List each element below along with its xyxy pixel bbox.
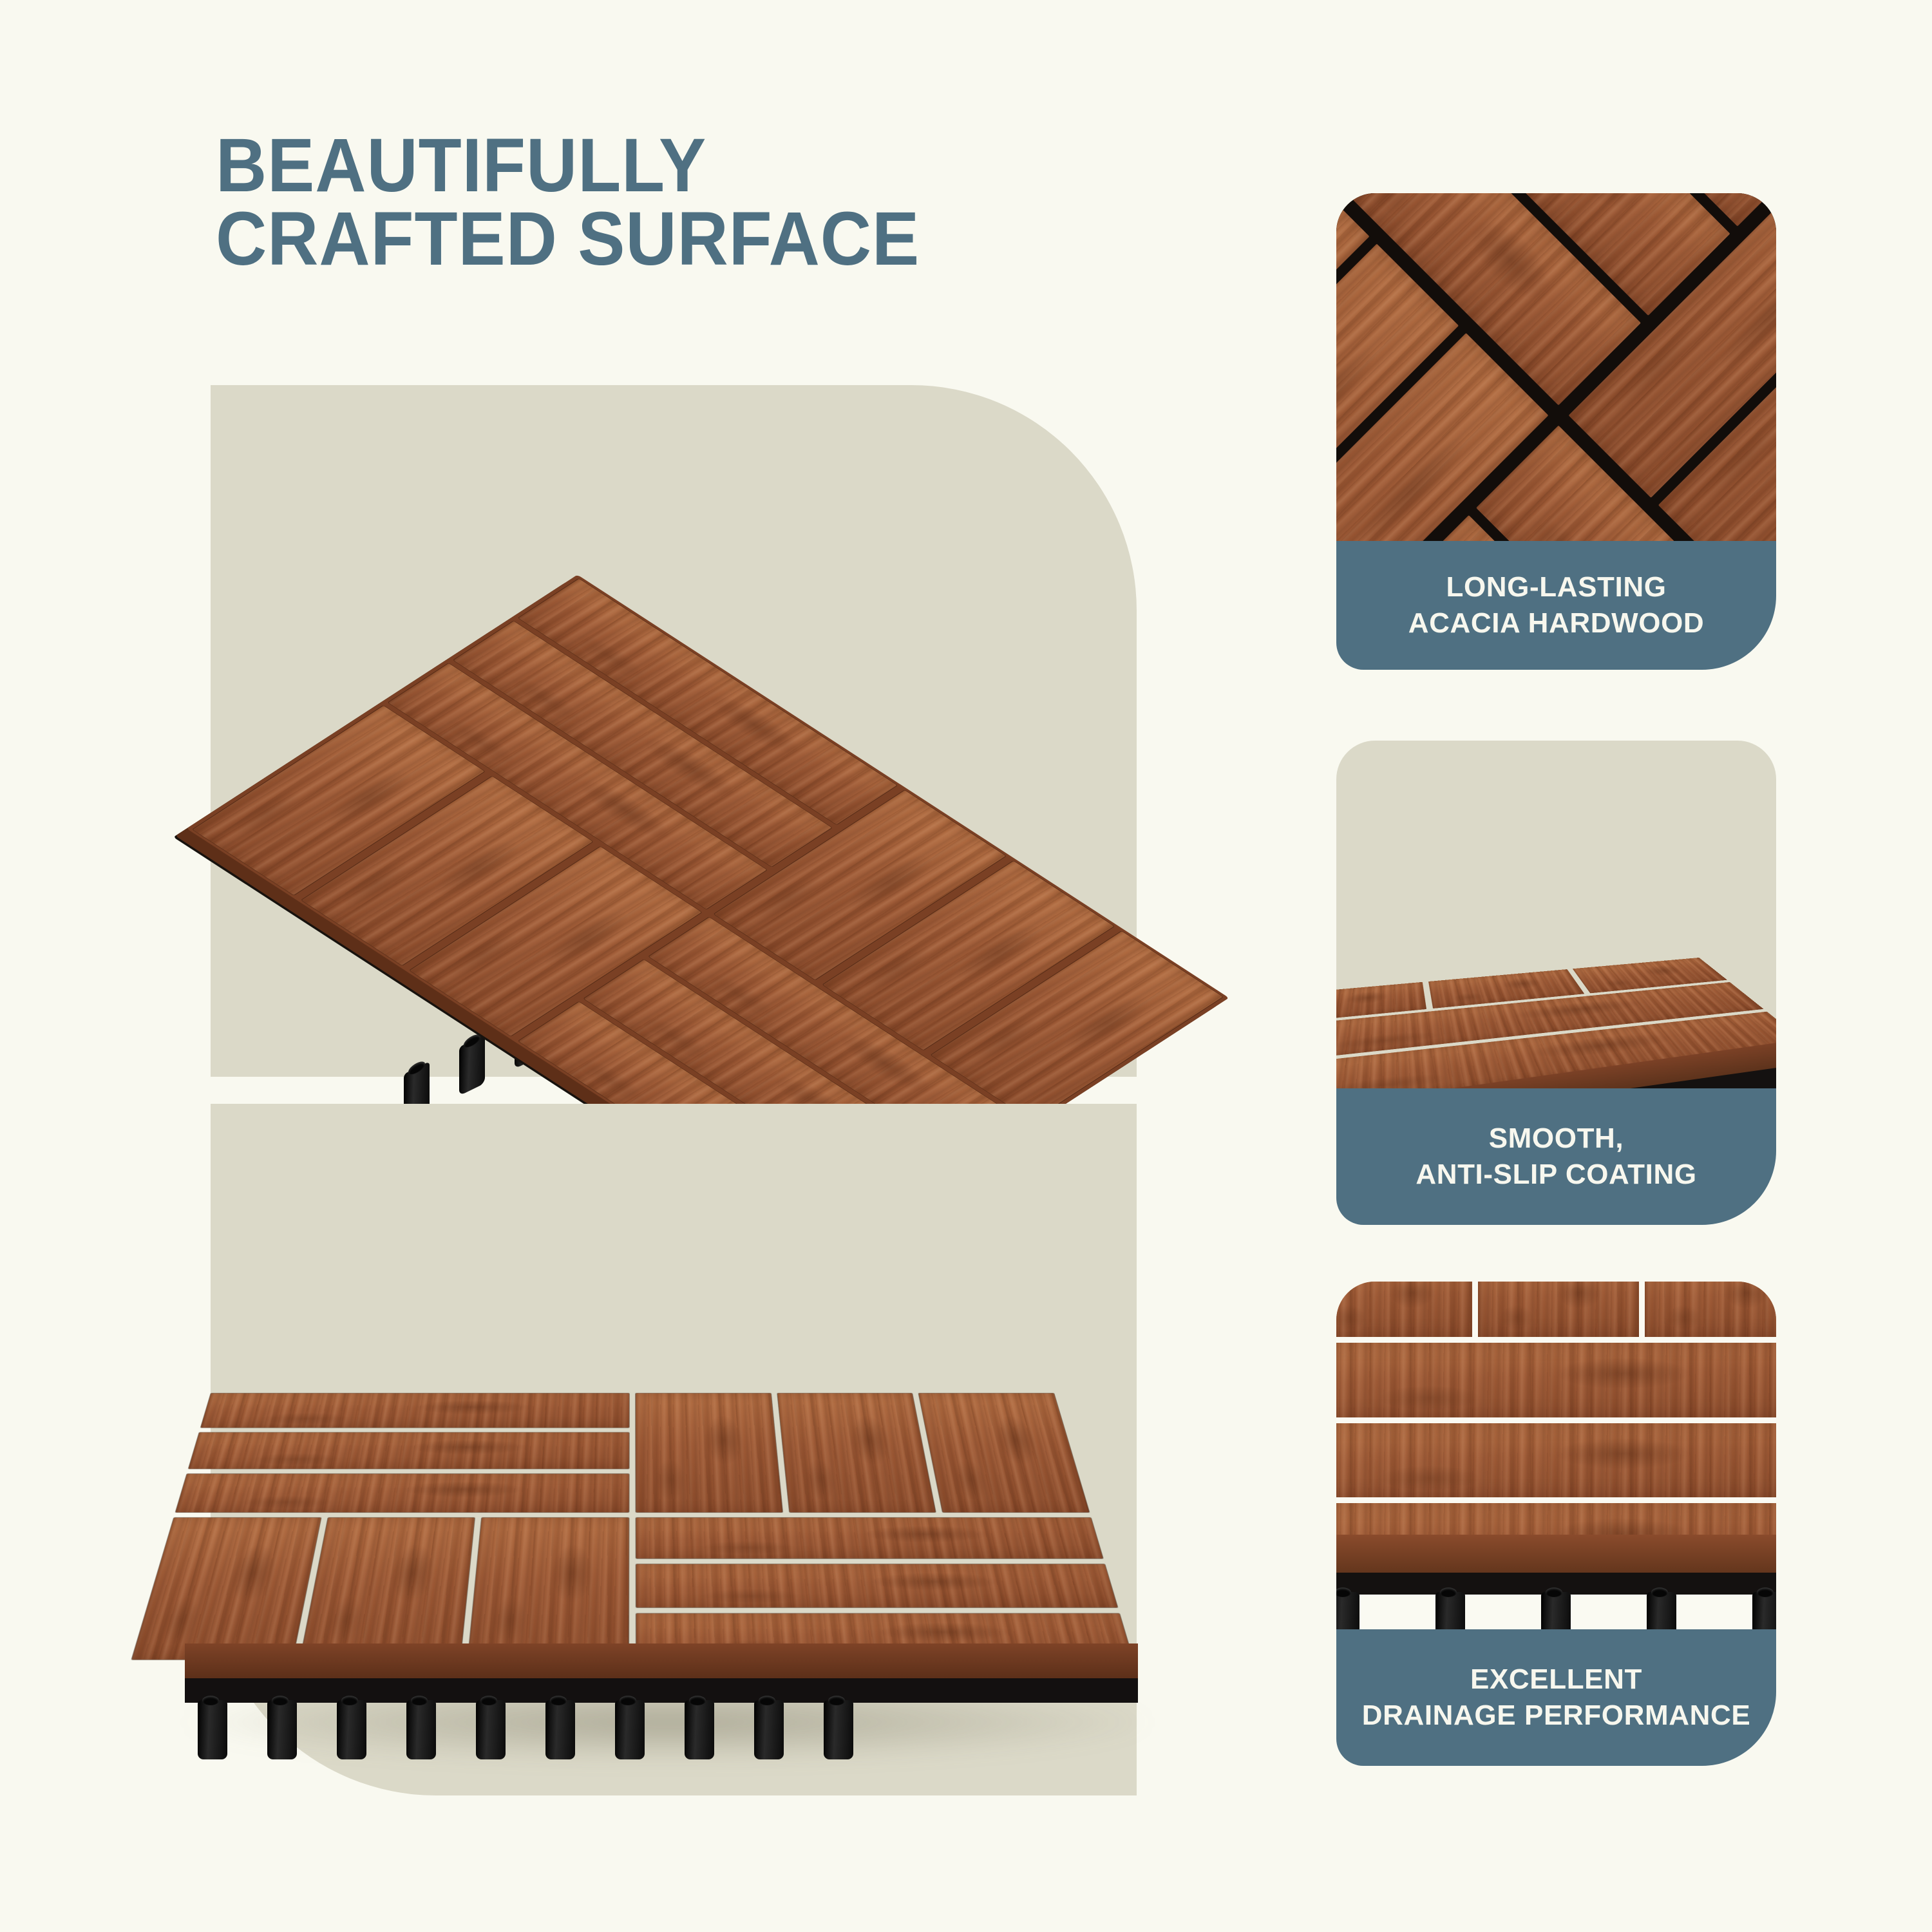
base-peg <box>459 1034 485 1096</box>
tile-quadrant <box>632 1515 1138 1663</box>
base-peg <box>824 1700 853 1759</box>
wood-slat <box>131 1518 321 1660</box>
wood-slat <box>636 1393 782 1512</box>
base-peg <box>406 1700 436 1759</box>
front-tile-surface <box>127 1391 1138 1663</box>
wood-slat <box>468 1518 629 1660</box>
base-peg <box>267 1700 297 1759</box>
base-peg <box>337 1700 366 1759</box>
tile-front-edge <box>1336 1282 1776 1629</box>
base-peg <box>1647 1592 1676 1629</box>
base-peg <box>1541 1592 1571 1629</box>
feature-card-anti-slip: SMOOTH, ANTI-SLIP COATING <box>1336 741 1776 1225</box>
base-peg <box>198 1700 227 1759</box>
caption-line-2: DRAINAGE PERFORMANCE <box>1362 1698 1751 1734</box>
peg-row <box>1336 1592 1776 1629</box>
diagonal-slat-closeup <box>1336 193 1776 541</box>
page-title-line-2: CRAFTED SURFACE <box>216 202 1114 276</box>
wood-slat <box>176 1474 629 1513</box>
front-tile-edge <box>185 1643 1138 1681</box>
caption-line-1: EXCELLENT <box>1470 1662 1642 1698</box>
wood-slat <box>1645 1282 1776 1337</box>
base-peg <box>1336 1592 1359 1629</box>
tile-edge <box>1336 1535 1776 1575</box>
page-title: BEAUTIFULLY CRAFTED SURFACE <box>216 129 1114 276</box>
feature-caption: LONG-LASTING ACACIA HARDWOOD <box>1336 541 1776 670</box>
base-peg <box>685 1700 714 1759</box>
feature-card-drainage: EXCELLENT DRAINAGE PERFORMANCE <box>1336 1282 1776 1766</box>
feature-caption: SMOOTH, ANTI-SLIP COATING <box>1336 1088 1776 1225</box>
caption-line-1: LONG-LASTING <box>1446 569 1666 605</box>
wood-slat <box>1336 1343 1776 1417</box>
caption-line-1: SMOOTH, <box>1489 1121 1624 1157</box>
tile-quadrant <box>127 1515 632 1663</box>
hero-image-panel <box>211 385 1137 1077</box>
base-peg <box>1752 1592 1776 1629</box>
base-peg <box>1435 1592 1465 1629</box>
front-peg-row <box>198 1700 853 1759</box>
base-peg <box>615 1700 645 1759</box>
feature-caption: EXCELLENT DRAINAGE PERFORMANCE <box>1336 1629 1776 1766</box>
feature-card-acacia-hardwood: LONG-LASTING ACACIA HARDWOOD <box>1336 193 1776 670</box>
wood-slat <box>636 1564 1118 1607</box>
front-tile-base-plate <box>185 1678 1138 1703</box>
tile-corner-angle <box>1336 741 1776 1088</box>
wood-slat <box>636 1518 1103 1558</box>
wood-slat <box>1336 1282 1472 1337</box>
slat-row <box>1336 1343 1776 1417</box>
wood-slat <box>300 1518 475 1660</box>
slat-row <box>1336 1282 1776 1337</box>
base-peg <box>754 1700 784 1759</box>
diagonal-slat-grid <box>1336 193 1776 541</box>
tile-top-surface <box>1336 1282 1776 1578</box>
caption-line-2: ACACIA HARDWOOD <box>1408 605 1705 641</box>
base-peg <box>545 1700 575 1759</box>
page-title-line-1: BEAUTIFULLY <box>216 129 1114 202</box>
tile-quadrant <box>632 1391 1094 1515</box>
wood-slat <box>189 1432 629 1468</box>
tile-quadrant <box>171 1391 632 1515</box>
wood-slat <box>777 1393 936 1512</box>
photo-backdrop <box>1336 193 1776 541</box>
wood-slat <box>1336 1423 1776 1498</box>
wood-slat <box>1478 1282 1640 1337</box>
secondary-image-panel <box>211 1104 1137 1795</box>
wood-slat <box>919 1393 1090 1512</box>
base-peg <box>476 1700 506 1759</box>
wood-slat <box>201 1393 629 1427</box>
slat-row <box>1336 1423 1776 1498</box>
caption-line-2: ANTI-SLIP COATING <box>1416 1157 1696 1193</box>
